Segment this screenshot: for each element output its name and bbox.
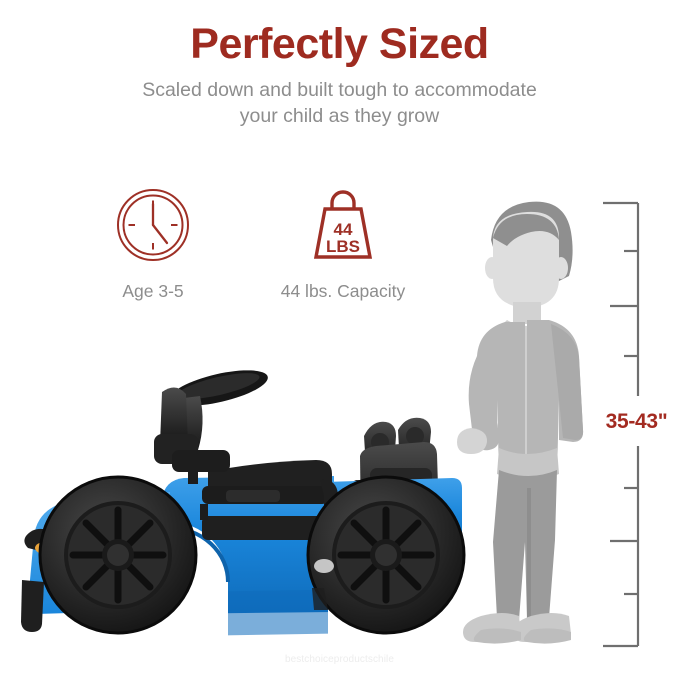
feature-list: Age 3-5 44 LBS 44 lbs. Capacity bbox=[58, 183, 438, 302]
weight-bag-icon: 44 LBS bbox=[304, 183, 382, 267]
clock-icon-svg bbox=[115, 187, 191, 263]
infographic-page: Perfectly Sized Scaled down and built to… bbox=[0, 0, 679, 679]
feature-label-age: Age 3-5 bbox=[122, 281, 183, 302]
ride-on-truck-svg bbox=[12, 330, 482, 640]
feature-label-capacity: 44 lbs. Capacity bbox=[281, 281, 406, 302]
page-subtitle: Scaled down and built tough to accommoda… bbox=[125, 77, 555, 130]
child-silhouette bbox=[455, 196, 600, 652]
truck-steering-wheel bbox=[154, 363, 271, 472]
header: Perfectly Sized Scaled down and built to… bbox=[0, 22, 679, 130]
truck-rear-wheel bbox=[308, 477, 464, 633]
weight-badge-unit: LBS bbox=[326, 237, 360, 256]
watermark: bestchoiceproductschile bbox=[0, 654, 679, 665]
product-image-ride-on-truck bbox=[12, 330, 482, 640]
feature-age: Age 3-5 bbox=[58, 183, 248, 302]
height-range-label: 35-43" bbox=[594, 410, 679, 434]
clock-icon bbox=[115, 183, 191, 267]
child-silhouette-svg bbox=[455, 196, 600, 652]
page-title: Perfectly Sized bbox=[0, 22, 679, 67]
weight-bag-icon-svg: 44 LBS bbox=[304, 185, 382, 265]
truck-front-wheel bbox=[40, 477, 196, 633]
feature-capacity: 44 LBS 44 lbs. Capacity bbox=[248, 183, 438, 302]
